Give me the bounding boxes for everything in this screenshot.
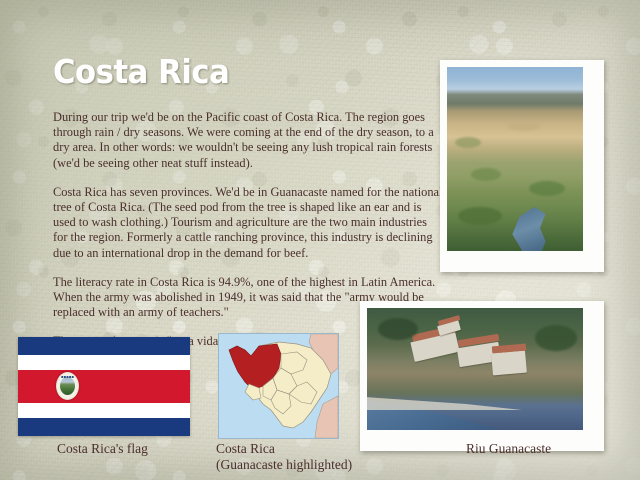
- photo-resort-image: [367, 308, 583, 430]
- flag-stripe-red: [18, 370, 190, 404]
- flag-stripe-blue-bottom: [18, 418, 190, 436]
- caption-map-line2: (Guanacaste highlighted): [216, 457, 386, 473]
- photo-landscape-frame: [440, 60, 604, 272]
- slide-canvas: Costa Rica During our trip we'd be on th…: [0, 0, 640, 480]
- resort-building: [491, 350, 527, 375]
- photo-resort-frame: [360, 301, 604, 451]
- map-svg: [219, 334, 338, 438]
- photo-landscape-image: [447, 67, 583, 251]
- landscape-river: [512, 207, 558, 251]
- landscape-field-blob: [507, 122, 541, 131]
- paragraph-2: Costa Rica has seven provinces. We'd be …: [53, 185, 443, 261]
- caption-flag: Costa Rica's flag: [57, 441, 148, 457]
- coat-of-arms-scene: [60, 377, 75, 395]
- caption-resort: Riu Guanacaste: [466, 441, 551, 457]
- landscape-field-blob: [455, 137, 481, 148]
- landscape-tree-blob: [529, 181, 565, 196]
- flag-stripe-white-lower: [18, 403, 190, 418]
- resort-vegetation: [378, 318, 418, 340]
- resort-beach: [367, 393, 527, 410]
- costa-rica-flag: [18, 337, 190, 436]
- flag-stripe-blue-top: [18, 337, 190, 355]
- resort-vegetation: [535, 325, 577, 351]
- landscape-tree-blob: [458, 207, 502, 225]
- caption-map-line1: Costa Rica: [216, 441, 386, 457]
- costa-rica-map: [218, 333, 339, 439]
- coat-of-arms-icon: [56, 372, 79, 400]
- page-title: Costa Rica: [53, 52, 229, 91]
- paragraph-1: During our trip we'd be on the Pacific c…: [53, 110, 443, 171]
- landscape-tree-blob: [471, 168, 501, 181]
- coat-of-arms-stars: [61, 375, 74, 379]
- flag-stripe-white-upper: [18, 355, 190, 370]
- caption-map: Costa Rica (Guanacaste highlighted): [216, 441, 386, 473]
